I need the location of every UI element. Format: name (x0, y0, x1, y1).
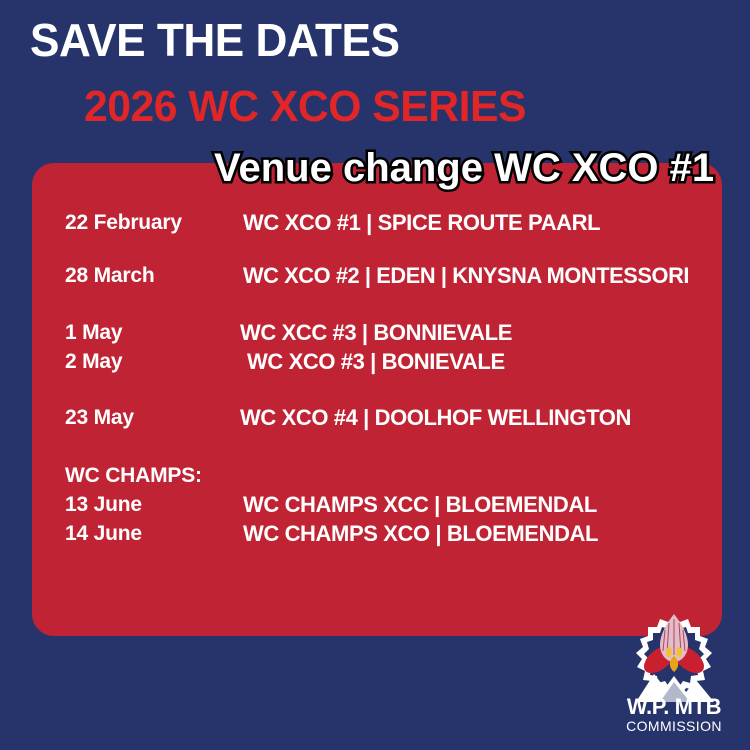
protea-mountain-gear-icon (620, 610, 728, 702)
logo-wordmark: W.P. MTB COMMISSION (612, 696, 736, 734)
schedule-row-date: WC CHAMPS: (65, 461, 202, 491)
wp-mtb-commission-logo: W.P. MTB COMMISSION (612, 610, 736, 736)
schedule-row-event: WC XCO #4 | DOOLHOF WELLINGTON (240, 403, 631, 433)
schedule-row: WC CHAMPS: (32, 461, 722, 491)
save-the-dates-heading: SAVE THE DATES (30, 16, 400, 64)
schedule-list: 22 FebruaryWC XCO #1 | SPICE ROUTE PAARL… (32, 163, 722, 636)
schedule-row-event: WC XCO #2 | EDEN | KNYSNA MONTESSORI (243, 261, 689, 291)
poster-canvas: SAVE THE DATES 2026 WC XCO SERIES Venue … (0, 0, 750, 750)
logo-name: W.P. MTB (612, 696, 736, 718)
schedule-row: 2 MayWC XCO #3 | BONIEVALE (32, 347, 722, 377)
schedule-row-date: 14 June (65, 519, 142, 549)
schedule-row-event: WC XCO #1 | SPICE ROUTE PAARL (243, 208, 600, 238)
schedule-row-event: WC CHAMPS XCO | BLOEMENDAL (243, 519, 598, 549)
schedule-row-date: 28 March (65, 261, 154, 291)
series-title-heading: 2026 WC XCO SERIES (84, 84, 526, 130)
schedule-row-event: WC XCC #3 | BONNIEVALE (240, 318, 512, 348)
schedule-row: 28 MarchWC XCO #2 | EDEN | KNYSNA MONTES… (32, 261, 722, 291)
schedule-row-date: 23 May (65, 403, 134, 433)
schedule-row-event: WC XCO #3 | BONIEVALE (247, 347, 505, 377)
venue-change-label: Venue change WC XCO #1 (214, 146, 714, 190)
schedule-row: 13 JuneWC CHAMPS XCC | BLOEMENDAL (32, 490, 722, 520)
schedule-row: 14 JuneWC CHAMPS XCO | BLOEMENDAL (32, 519, 722, 549)
schedule-row: 22 FebruaryWC XCO #1 | SPICE ROUTE PAARL (32, 208, 722, 238)
venue-change-banner: Venue change WC XCO #1 (214, 146, 694, 190)
schedule-row: 1 MayWC XCC #3 | BONNIEVALE (32, 318, 722, 348)
logo-subtitle: COMMISSION (612, 718, 736, 734)
schedule-row-date: 1 May (65, 318, 122, 348)
schedule-row-date: 2 May (65, 347, 122, 377)
schedule-row-event: WC CHAMPS XCC | BLOEMENDAL (243, 490, 597, 520)
schedule-row-date: 22 February (65, 208, 182, 238)
schedule-row: 23 MayWC XCO #4 | DOOLHOF WELLINGTON (32, 403, 722, 433)
schedule-row-date: 13 June (65, 490, 142, 520)
